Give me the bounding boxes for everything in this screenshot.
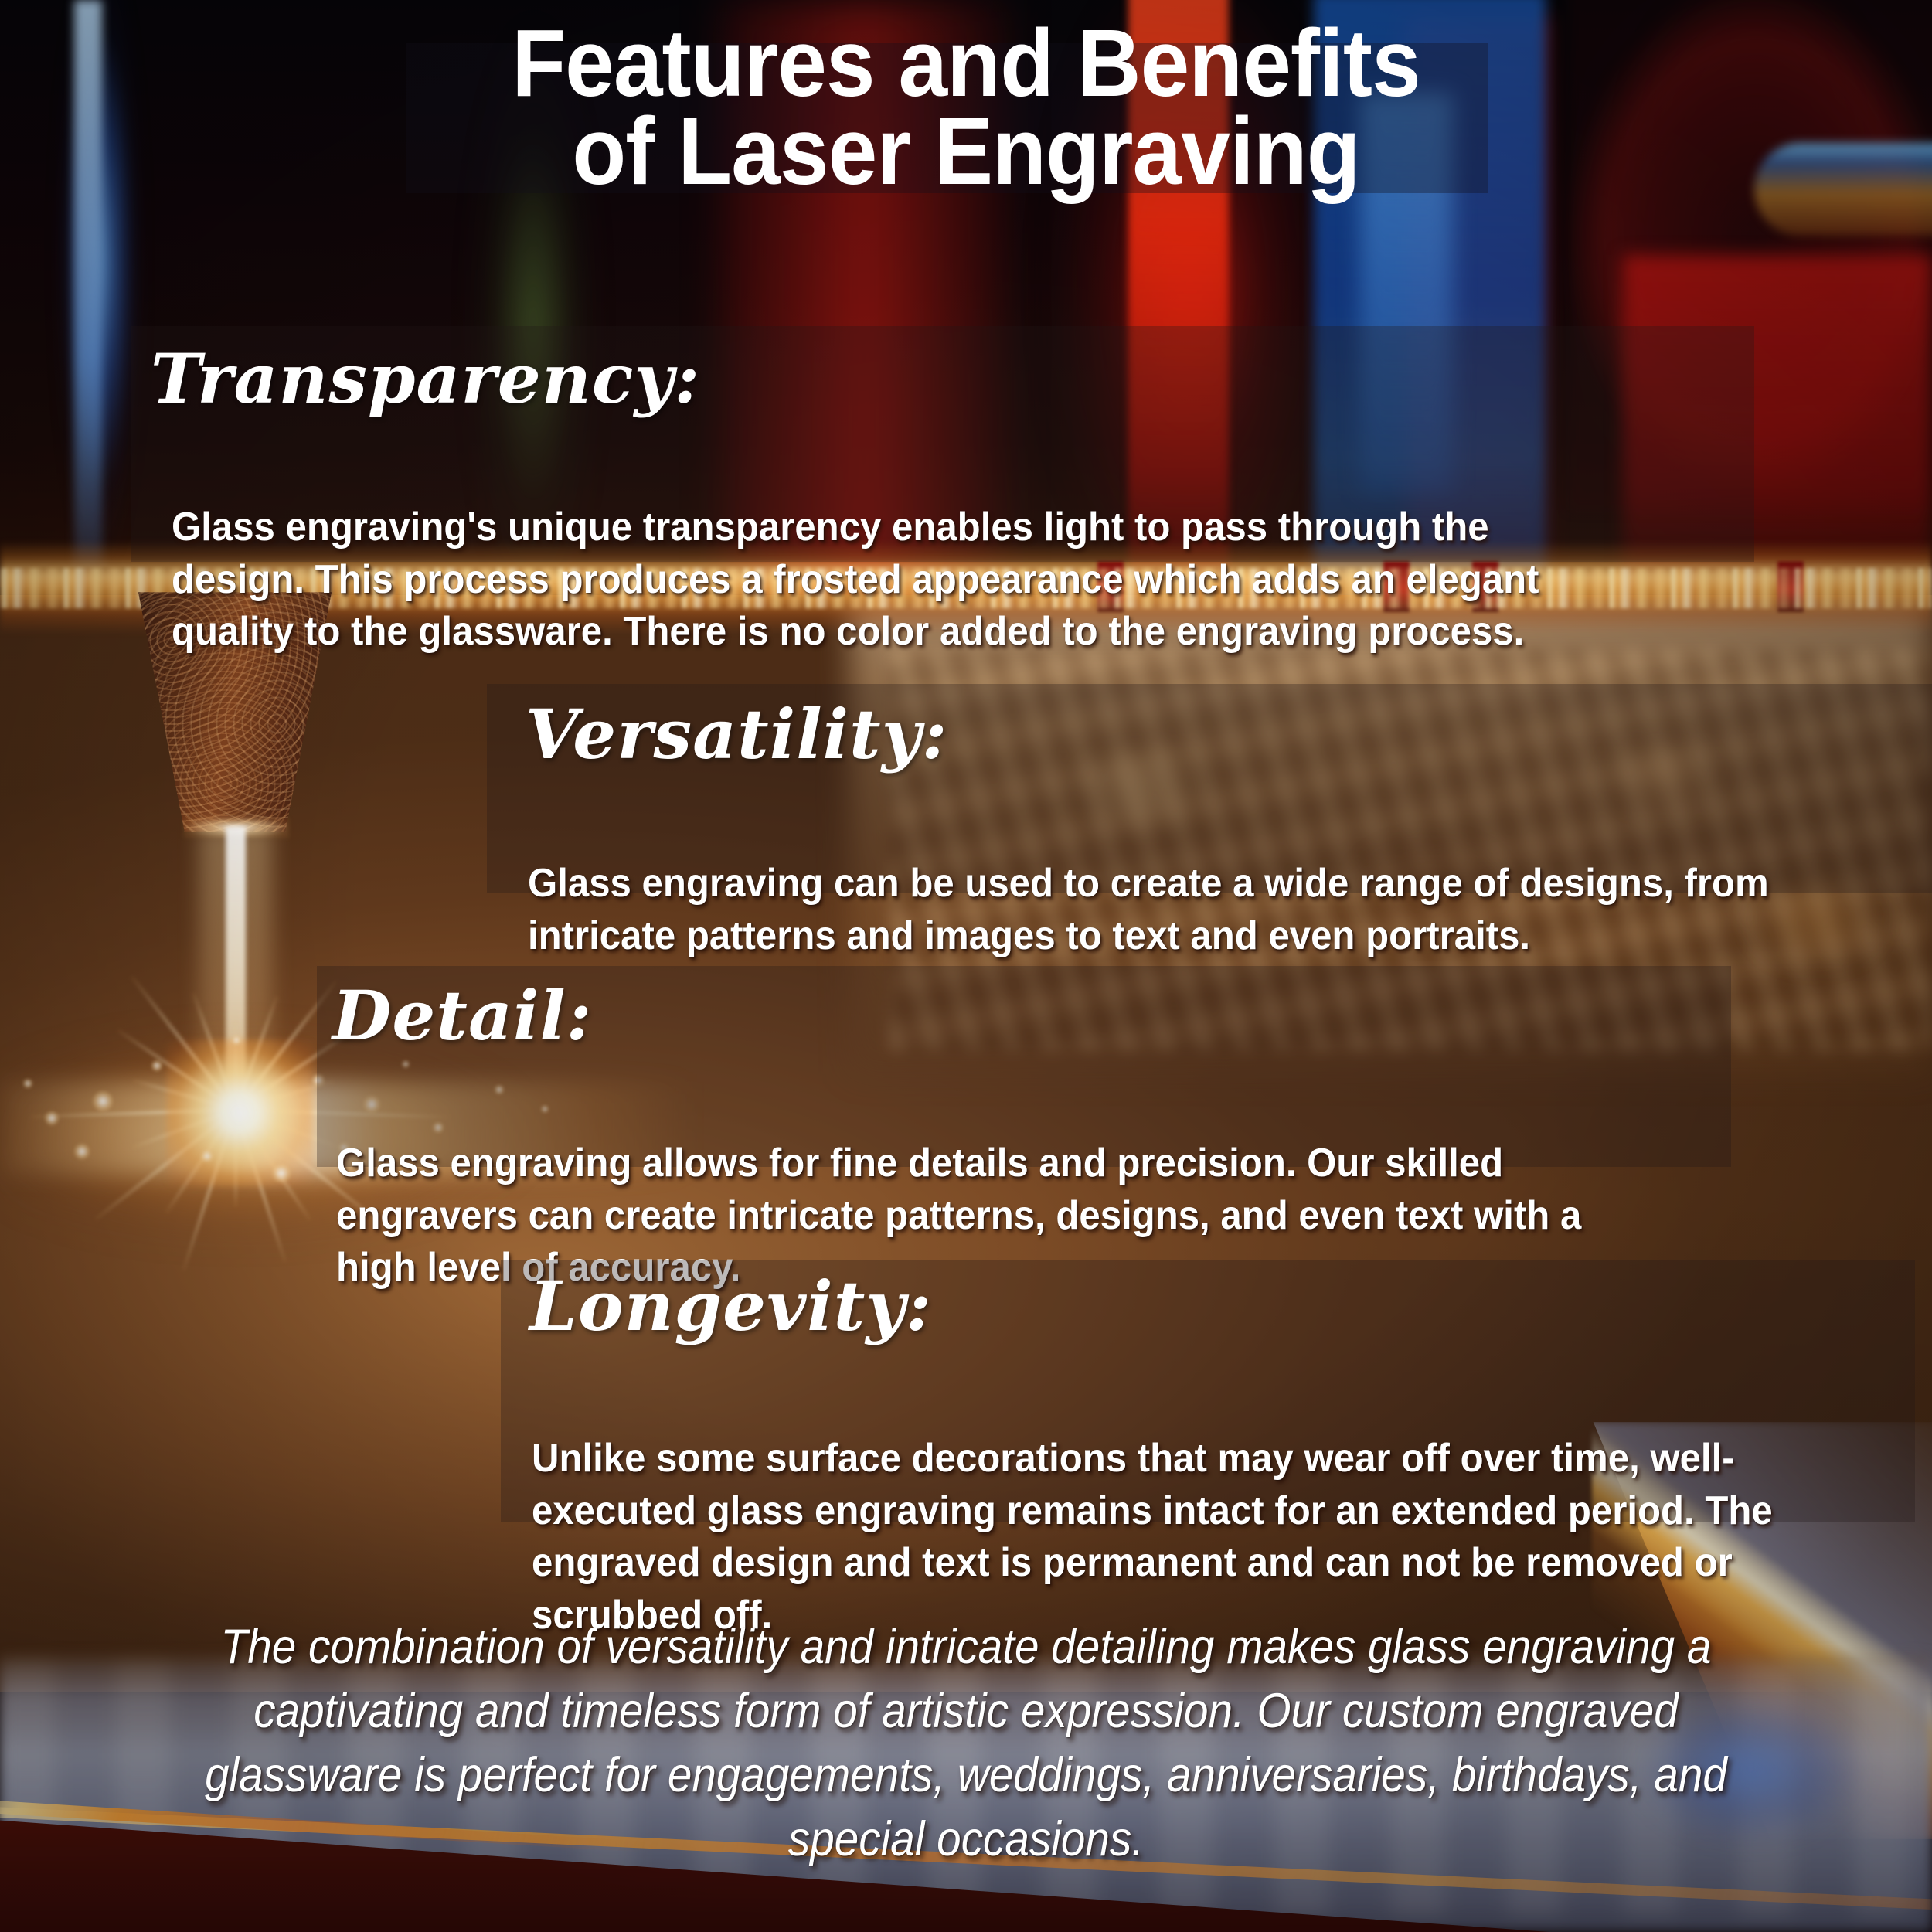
closing-paragraph: The combination of versatility and intri… <box>166 1615 1766 1872</box>
section-transparency-heading: Transparency: <box>151 338 1078 419</box>
section-detail-heading: Detail: <box>332 975 1260 1056</box>
infographic-content: Features and Benefitsof Laser Engraving … <box>0 0 1932 1932</box>
section-versatility-heading: Versatility: <box>526 694 1453 774</box>
section-versatility-body: Glass engraving can be used to create a … <box>528 858 1842 962</box>
infographic-canvas: Features and Benefitsof Laser Engraving … <box>0 0 1932 1932</box>
section-longevity: Longevity: Unlike some surface decoratio… <box>0 0 1391 289</box>
section-transparency-body: Glass engraving's unique transparency en… <box>172 502 1632 658</box>
section-longevity-body: Unlike some surface decorations that may… <box>532 1433 1846 1641</box>
section-longevity-heading: Longevity: <box>529 1266 1457 1346</box>
